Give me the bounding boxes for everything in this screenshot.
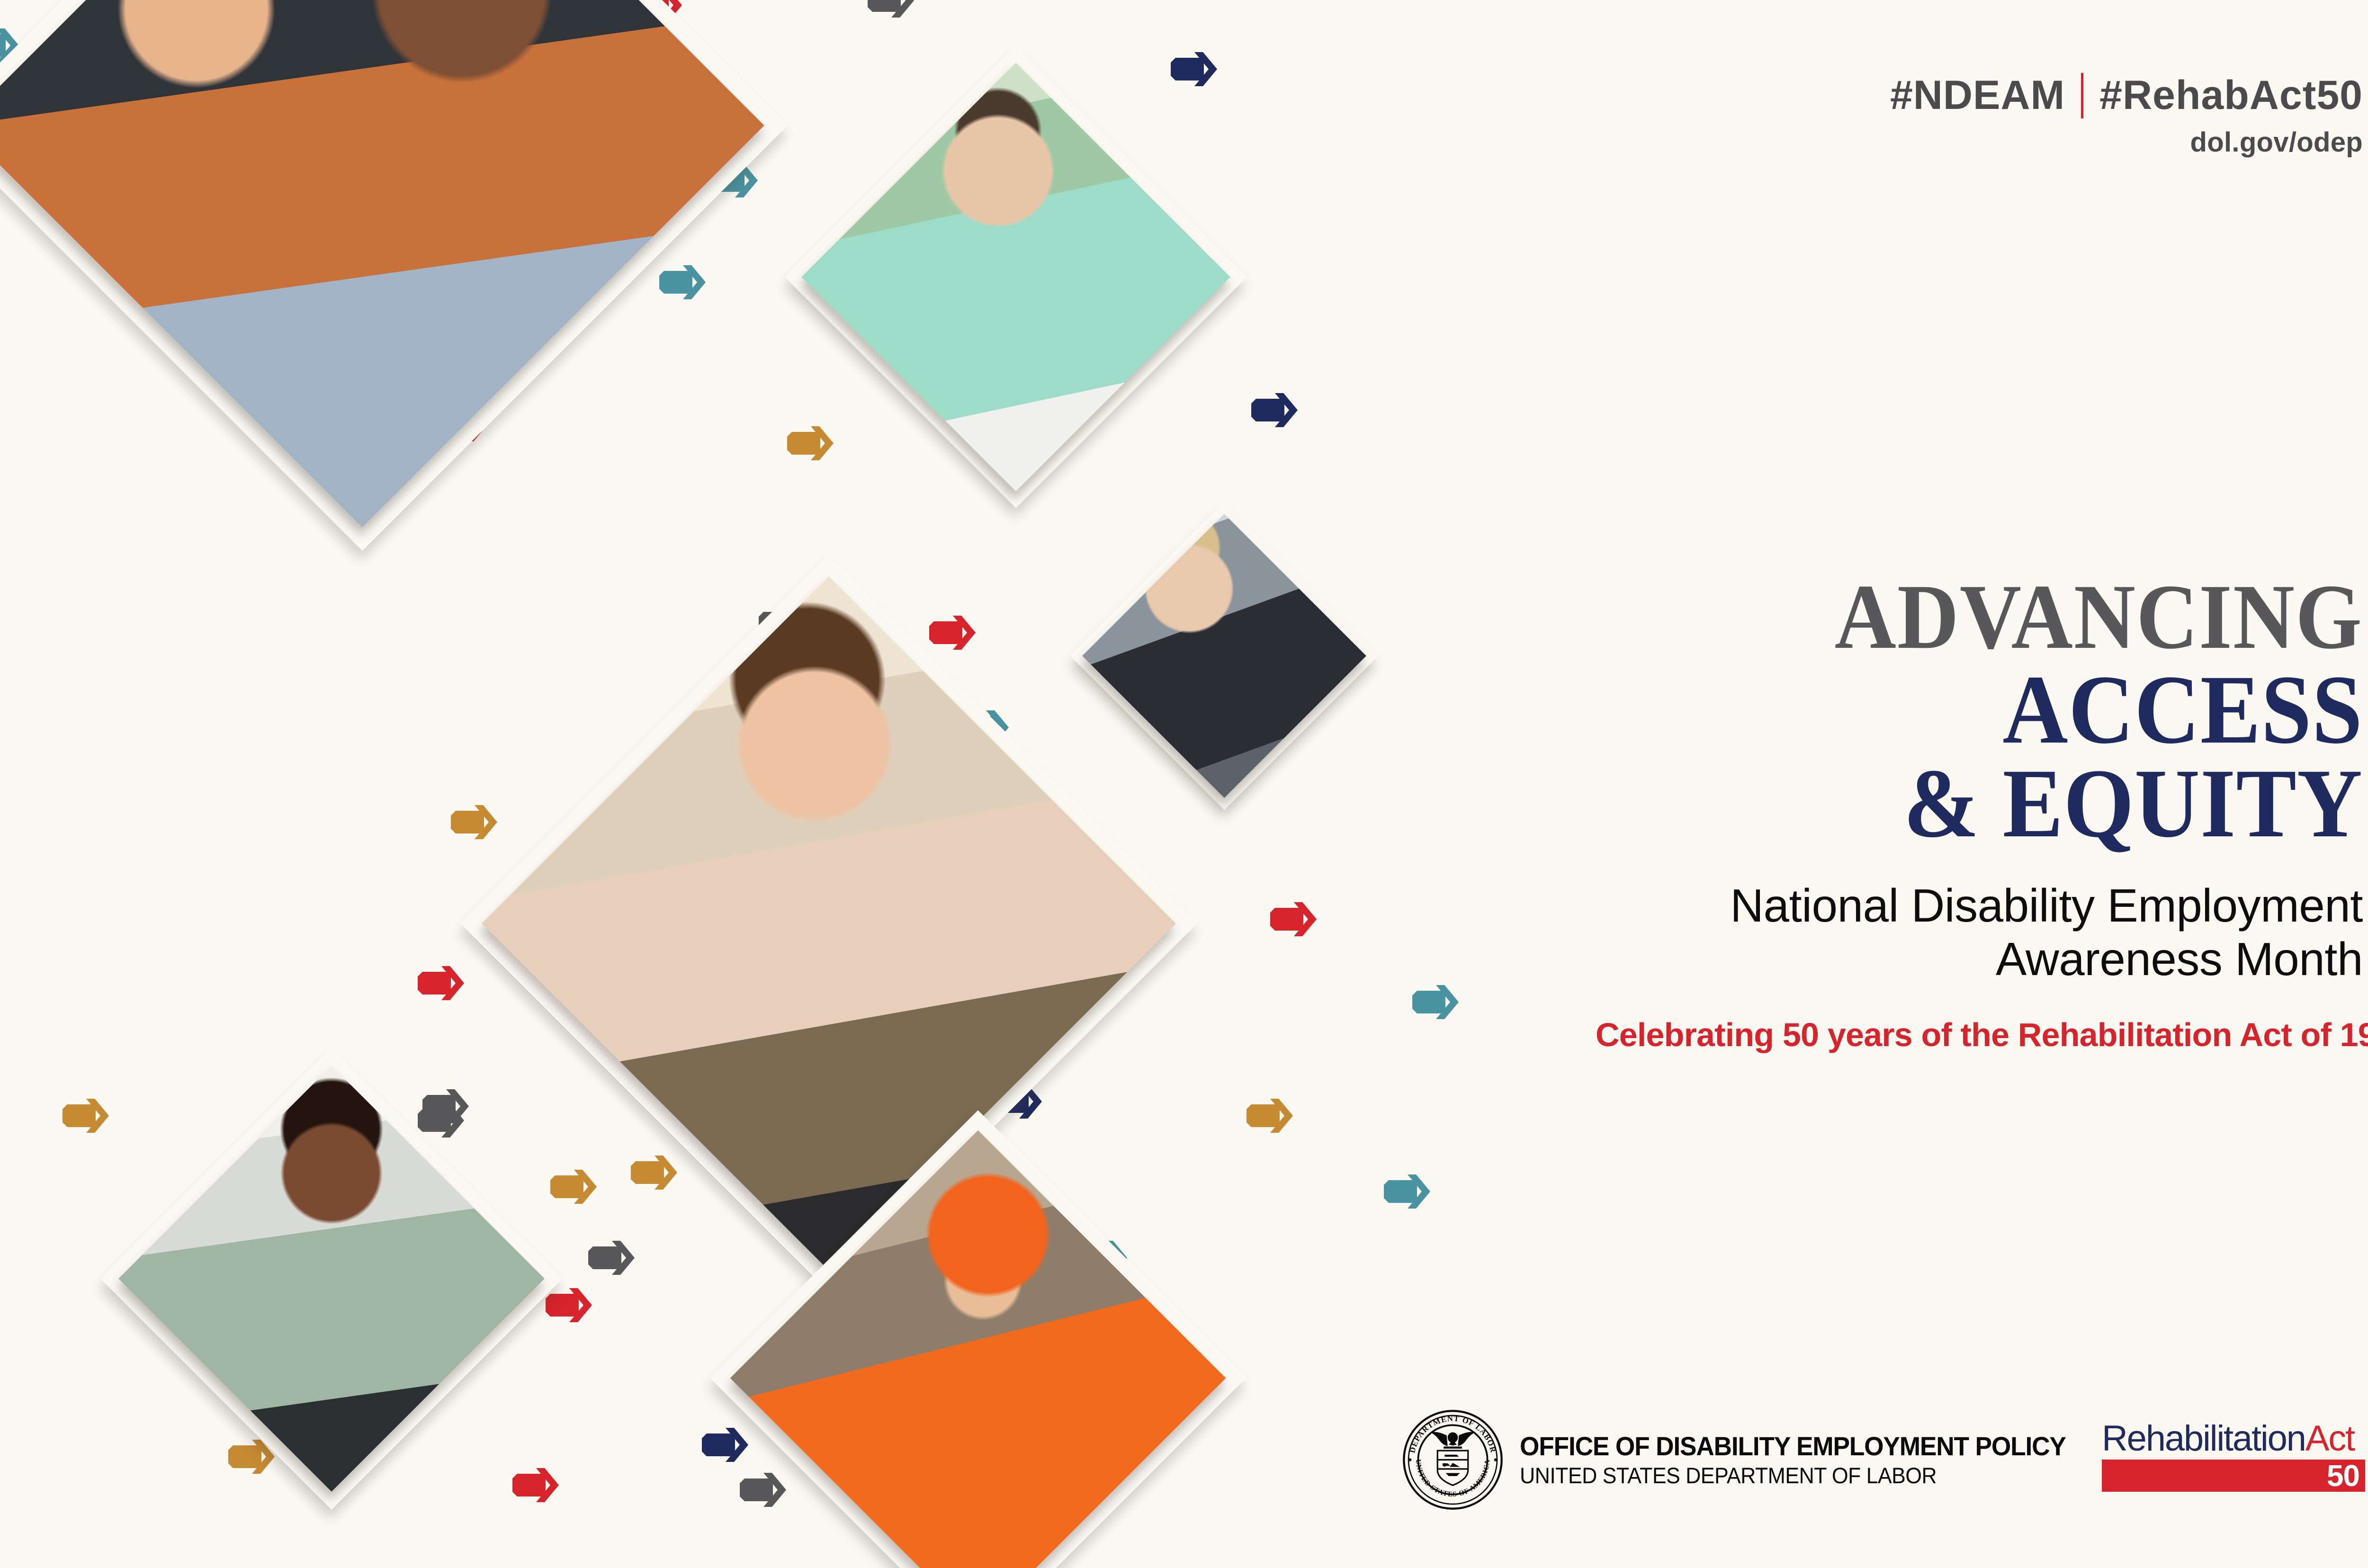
hashtag-divider: [2081, 73, 2083, 118]
agency-name: OFFICE OF DISABILITY EMPLOYMENT POLICY: [1520, 1432, 2066, 1460]
dol-agency-text: OFFICE OF DISABILITY EMPLOYMENT POLICY U…: [1520, 1432, 2094, 1487]
hashtag-row: #NDEAM #RehabAct50: [1890, 72, 2363, 119]
anniversary-tagline: Celebrating 50 years of the Rehabilitati…: [1596, 1016, 2363, 1054]
rehab-act-50-logo: RehabilitationAct 50: [2102, 1421, 2365, 1492]
headline-line-equity: & EQUITY: [1657, 759, 2363, 848]
subtitle-block: National Disability Employment Awareness…: [1596, 879, 2363, 986]
headline-line-advancing: ADVANCING: [1657, 575, 2363, 659]
rehab-badge-number: 50: [2327, 1460, 2359, 1491]
subtitle-line-1: National Disability Employment: [1596, 879, 2363, 933]
rehab-act-wordmark: RehabilitationAct: [2102, 1421, 2365, 1457]
dol-seal-icon: DEPARTMENT OF LABOR UNITED STATES OF AME…: [1402, 1409, 1504, 1511]
rehab-word-navy: Rehabilitation: [2102, 1418, 2305, 1459]
department-name: UNITED STATES DEPARTMENT OF LABOR: [1520, 1464, 2066, 1487]
headline-line-access: ACCESS: [1657, 665, 2363, 754]
hashtag-block: #NDEAM #RehabAct50 dol.gov/odep: [1890, 72, 2363, 158]
dol-footer-lockup: DEPARTMENT OF LABOR UNITED STATES OF AME…: [1402, 1409, 2094, 1511]
website-url[interactable]: dol.gov/odep: [1890, 126, 2363, 158]
rehab-badge-bar: 50: [2102, 1460, 2365, 1492]
headline-block: ADVANCING ACCESS & EQUITY National Disab…: [1596, 575, 2363, 1054]
hashtag-rehabact50: #RehabAct50: [2099, 72, 2363, 119]
subtitle-line-2: Awareness Month: [1596, 932, 2363, 986]
poster-canvas: #NDEAM #RehabAct50 dol.gov/odep ADVANCIN…: [0, 0, 2368, 1568]
hashtag-ndeam: #NDEAM: [1890, 72, 2065, 119]
rehab-word-red: Act: [2305, 1418, 2354, 1459]
